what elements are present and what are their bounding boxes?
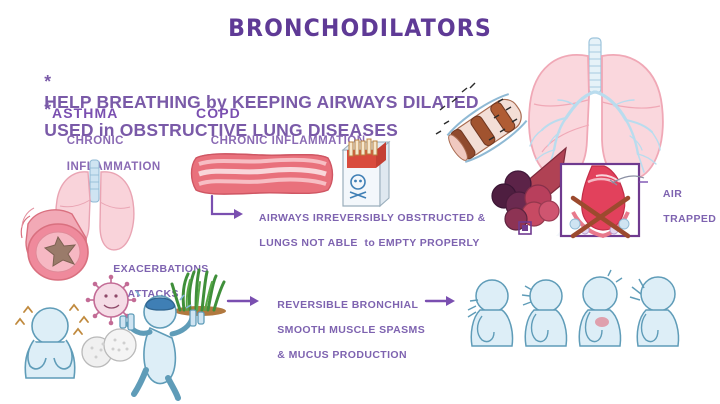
fibrotic-airway-illustration bbox=[192, 154, 333, 194]
infographic-canvas: BRONCHODILATORS * HELP BREATHING by KEEP… bbox=[0, 0, 720, 404]
pollen-illustration bbox=[82, 329, 136, 367]
illustration-layer bbox=[0, 0, 720, 404]
coughing-person-1 bbox=[468, 280, 513, 346]
cigarette-pack-illustration bbox=[343, 139, 389, 206]
grass-allergen-illustration bbox=[172, 270, 226, 316]
asthma-mechanism-arrow-left bbox=[228, 296, 259, 306]
coughing-people-illustration bbox=[468, 270, 679, 346]
coughing-person-4 bbox=[630, 277, 679, 346]
healthy-lungs-illustration bbox=[529, 38, 663, 180]
stressed-person-illustration bbox=[16, 305, 88, 378]
coughing-person-3 bbox=[579, 270, 622, 346]
copd-mechanism-arrow bbox=[212, 196, 243, 219]
infected-bronchus-illustration bbox=[436, 83, 529, 167]
coughing-person-2 bbox=[522, 280, 567, 346]
damaged-alveoli-illustration bbox=[492, 148, 566, 234]
asthma-mechanism-arrow-right bbox=[426, 296, 455, 306]
air-trapping-box-illustration bbox=[556, 164, 648, 236]
